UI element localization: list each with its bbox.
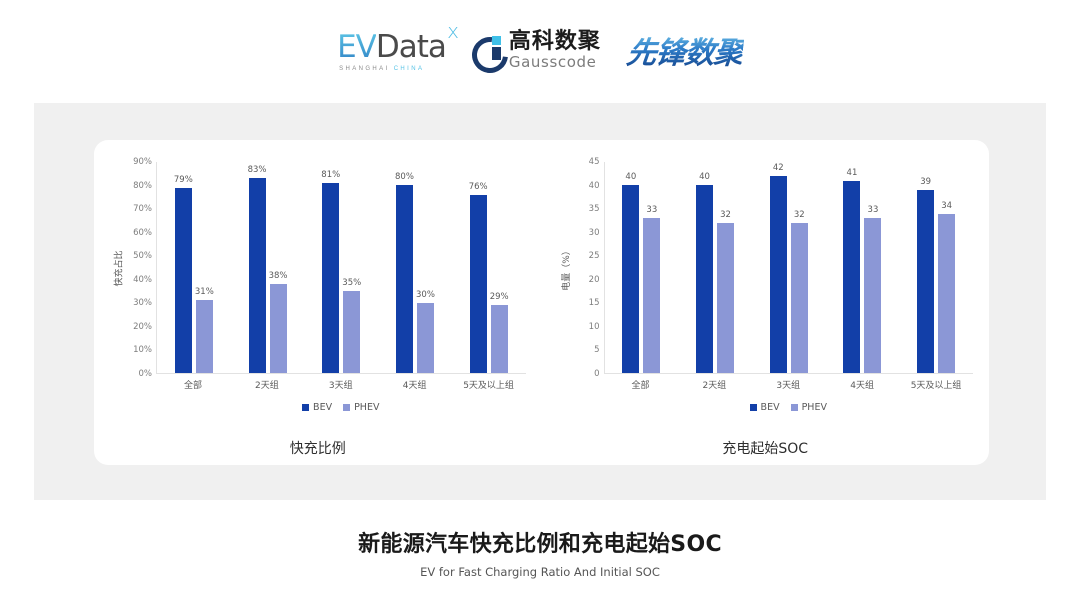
- evdata-ev-text: EV: [337, 29, 376, 65]
- bar-value-label: 31%: [195, 287, 214, 297]
- plot-area-left: 快充占比 90%80%70%60%50%40%30%20%10%0% 79%31…: [110, 162, 526, 374]
- page-title: 新能源汽车快充比例和充电起始SOC: [0, 526, 1080, 558]
- evdata-tagline-city: SHANGHAI: [339, 66, 394, 72]
- y-tick-label: 30: [589, 228, 600, 238]
- bar-value-label: 40: [625, 172, 636, 182]
- bar-value-label: 33: [868, 205, 879, 215]
- bar-value-label: 40: [699, 172, 710, 182]
- bar-fill: [249, 178, 266, 373]
- gausscode-wordmark: 高科数聚 Gausscode: [509, 31, 601, 70]
- bar-phev[interactable]: 32: [791, 223, 808, 373]
- bars-plot-left: 79%31%83%38%81%35%80%30%76%29%: [156, 162, 526, 374]
- y-tick-label: 5: [594, 345, 599, 355]
- bar-fill: [717, 223, 734, 373]
- x-tick-label: 3天组: [304, 378, 378, 391]
- bar-group: 4033: [605, 162, 679, 373]
- chart-initial-soc: 电量（%） 454035302520151050 403340324232413…: [542, 140, 990, 465]
- legend-label-phev: PHEV: [802, 402, 827, 413]
- bar-phev[interactable]: 38%: [270, 284, 287, 373]
- bar-group: 4232: [752, 162, 826, 373]
- bar-bev[interactable]: 40: [696, 185, 713, 373]
- x-tick-label: 全部: [156, 378, 230, 391]
- y-tick-label: 20: [589, 275, 600, 285]
- bar-value-label: 32: [794, 210, 805, 220]
- y-tick-label: 35: [589, 204, 600, 214]
- x-tick-label: 5天及以上组: [452, 378, 526, 391]
- logo-bar: EV Data x SHANGHAI CHINA 高科数聚 Gausscode …: [0, 22, 1080, 78]
- bar-fill: [491, 305, 508, 373]
- bar-fill: [938, 214, 955, 373]
- bar-value-label: 35%: [342, 278, 361, 288]
- bar-fill: [696, 185, 713, 373]
- bar-phev[interactable]: 33: [643, 218, 660, 373]
- plot-area-right: 电量（%） 454035302520151050 403340324232413…: [558, 162, 974, 374]
- bar-fill: [396, 185, 413, 373]
- bar-value-label: 33: [646, 205, 657, 215]
- bars-plot-right: 40334032423241333934: [604, 162, 974, 374]
- y-tick-label: 25: [589, 251, 600, 261]
- chart-fast-charging-ratio: 快充占比 90%80%70%60%50%40%30%20%10%0% 79%31…: [94, 140, 542, 465]
- x-tick-label: 2天组: [230, 378, 304, 391]
- chart-title-left: 快充比例: [110, 438, 526, 458]
- bar-phev[interactable]: 35%: [343, 291, 360, 373]
- y-tick-label: 70%: [133, 204, 152, 214]
- bar-group: 81%35%: [304, 162, 378, 373]
- footer-block: 新能源汽车快充比例和充电起始SOC EV for Fast Charging R…: [0, 526, 1080, 579]
- y-axis-label-left: 快充占比: [110, 162, 126, 374]
- y-tick-label: 50%: [133, 251, 152, 261]
- legend-swatch-phev-icon: [343, 404, 350, 411]
- x-axis-labels-right: 全部2天组3天组4天组5天及以上组: [604, 378, 974, 391]
- gausscode-logo: 高科数聚 Gausscode: [472, 31, 601, 70]
- content-panel: 快充占比 90%80%70%60%50%40%30%20%10%0% 79%31…: [34, 103, 1046, 500]
- bar-value-label: 76%: [469, 182, 488, 192]
- legend-item-bev[interactable]: BEV: [750, 402, 780, 413]
- x-tick-label: 全部: [604, 378, 678, 391]
- bar-fill: [417, 303, 434, 373]
- y-tick-label: 0%: [139, 369, 153, 379]
- gausscode-en-text: Gausscode: [509, 55, 601, 70]
- bar-fill: [270, 284, 287, 373]
- x-tick-label: 3天组: [751, 378, 825, 391]
- evdata-data-text: Data: [376, 29, 446, 65]
- y-axis-label-right: 电量（%）: [558, 162, 574, 374]
- y-tick-label: 0: [594, 369, 599, 379]
- bar-phev[interactable]: 34: [938, 214, 955, 373]
- bar-fill: [917, 190, 934, 373]
- bar-fill: [322, 183, 339, 373]
- bar-value-label: 79%: [174, 175, 193, 185]
- legend-item-bev[interactable]: BEV: [302, 402, 332, 413]
- bar-value-label: 39: [920, 177, 931, 187]
- evdata-x-icon: x: [447, 19, 459, 43]
- x-tick-label: 5天及以上组: [899, 378, 973, 391]
- evdata-wordmark: EV Data x: [337, 29, 446, 65]
- bar-fill: [843, 181, 860, 373]
- bar-value-label: 29%: [490, 292, 509, 302]
- y-tick-label: 15: [589, 298, 600, 308]
- y-tick-label: 40%: [133, 275, 152, 285]
- y-tick-label: 45: [589, 157, 600, 167]
- bar-group: 4133: [826, 162, 900, 373]
- legend-swatch-bev-icon: [750, 404, 757, 411]
- bar-group: 80%30%: [378, 162, 452, 373]
- bar-value-label: 81%: [321, 170, 340, 180]
- legend-swatch-phev-icon: [791, 404, 798, 411]
- bar-fill: [175, 188, 192, 373]
- legend-right: BEV PHEV: [604, 402, 974, 413]
- x-tick-label: 4天组: [378, 378, 452, 391]
- x-axis-line-left: [157, 373, 526, 374]
- bar-fill: [643, 218, 660, 373]
- bar-bev[interactable]: 83%: [249, 178, 266, 373]
- evdata-logo: EV Data x SHANGHAI CHINA: [337, 29, 446, 72]
- bar-group: 76%29%: [452, 162, 526, 373]
- xianfeng-logo: 先锋数聚: [627, 28, 743, 72]
- gausscode-g-icon: [472, 35, 502, 65]
- evdata-tagline-country: CHINA: [394, 66, 425, 72]
- bar-value-label: 83%: [248, 165, 267, 175]
- bar-fill: [791, 223, 808, 373]
- page-subtitle: EV for Fast Charging Ratio And Initial S…: [0, 565, 1080, 579]
- bar-fill: [470, 195, 487, 373]
- chart-title-right: 充电起始SOC: [558, 438, 974, 458]
- bar-phev[interactable]: 30%: [417, 303, 434, 373]
- bar-phev[interactable]: 33: [864, 218, 881, 373]
- y-tick-label: 10%: [133, 345, 152, 355]
- x-axis-line-right: [605, 373, 974, 374]
- x-tick-label: 2天组: [677, 378, 751, 391]
- charts-card: 快充占比 90%80%70%60%50%40%30%20%10%0% 79%31…: [94, 140, 989, 465]
- legend-label-bev: BEV: [313, 402, 332, 413]
- bar-phev[interactable]: 29%: [491, 305, 508, 373]
- evdata-tagline: SHANGHAI CHINA: [339, 66, 424, 72]
- bar-phev[interactable]: 32: [717, 223, 734, 373]
- legend-swatch-bev-icon: [302, 404, 309, 411]
- y-axis-ticks-left: 90%80%70%60%50%40%30%20%10%0%: [126, 162, 156, 374]
- y-tick-label: 90%: [133, 157, 152, 167]
- y-tick-label: 30%: [133, 298, 152, 308]
- bar-group: 79%31%: [157, 162, 231, 373]
- y-tick-label: 20%: [133, 322, 152, 332]
- bar-group: 4032: [678, 162, 752, 373]
- bar-fill: [196, 300, 213, 373]
- bar-fill: [343, 291, 360, 373]
- bar-value-label: 42: [773, 163, 784, 173]
- bar-group: 3934: [899, 162, 973, 373]
- y-tick-label: 10: [589, 322, 600, 332]
- bar-bev[interactable]: 80%: [396, 185, 413, 373]
- y-tick-label: 60%: [133, 228, 152, 238]
- bar-value-label: 30%: [416, 290, 435, 300]
- bar-bev[interactable]: 39: [917, 190, 934, 373]
- xianfeng-cn-text: 先锋数聚: [625, 28, 746, 72]
- gausscode-cn-text: 高科数聚: [509, 31, 601, 53]
- bar-groups-left: 79%31%83%38%81%35%80%30%76%29%: [157, 162, 526, 373]
- bar-value-label: 38%: [269, 271, 288, 281]
- bar-value-label: 80%: [395, 172, 414, 182]
- y-axis-ticks-right: 454035302520151050: [574, 162, 604, 374]
- bar-value-label: 41: [847, 168, 858, 178]
- bar-groups-right: 40334032423241333934: [605, 162, 974, 373]
- legend-label-phev: PHEV: [354, 402, 379, 413]
- bar-fill: [770, 176, 787, 373]
- legend-left: BEV PHEV: [156, 402, 526, 413]
- bar-bev[interactable]: 76%: [470, 195, 487, 373]
- bar-bev[interactable]: 81%: [322, 183, 339, 373]
- bar-fill: [864, 218, 881, 373]
- bar-phev[interactable]: 31%: [196, 300, 213, 373]
- legend-item-phev[interactable]: PHEV: [343, 402, 379, 413]
- bar-bev[interactable]: 42: [770, 176, 787, 373]
- x-axis-labels-left: 全部2天组3天组4天组5天及以上组: [156, 378, 526, 391]
- legend-label-bev: BEV: [761, 402, 780, 413]
- bar-bev[interactable]: 79%: [175, 188, 192, 373]
- charts-container: 快充占比 90%80%70%60%50%40%30%20%10%0% 79%31…: [94, 140, 989, 465]
- bar-bev[interactable]: 41: [843, 181, 860, 373]
- x-tick-label: 4天组: [825, 378, 899, 391]
- bar-group: 83%38%: [231, 162, 305, 373]
- bar-bev[interactable]: 40: [622, 185, 639, 373]
- bar-value-label: 32: [720, 210, 731, 220]
- y-tick-label: 40: [589, 181, 600, 191]
- y-tick-label: 80%: [133, 181, 152, 191]
- legend-item-phev[interactable]: PHEV: [791, 402, 827, 413]
- bar-fill: [622, 185, 639, 373]
- bar-value-label: 34: [941, 201, 952, 211]
